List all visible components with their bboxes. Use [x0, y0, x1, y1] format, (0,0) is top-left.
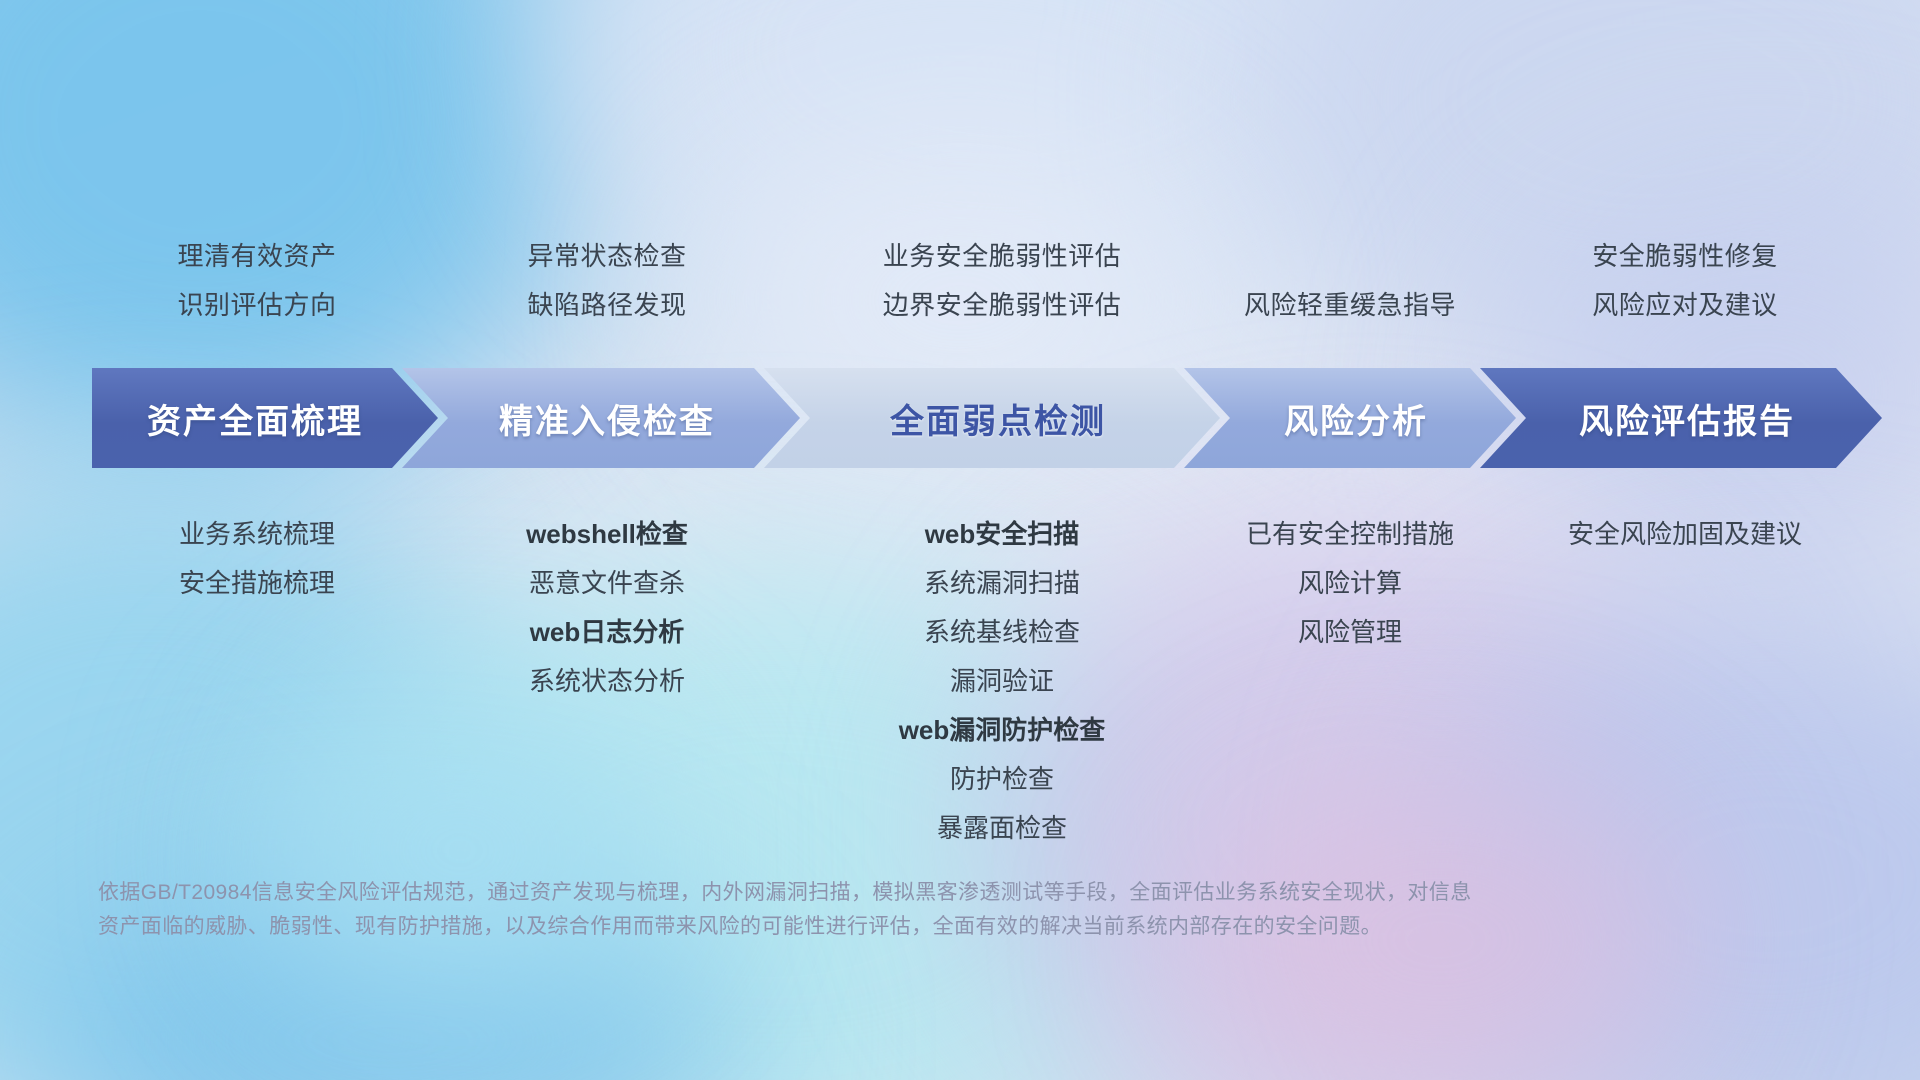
top-labels-intrusion-check: 异常状态检查缺陷路径发现	[397, 232, 817, 330]
stage-title: 资产全面梳理	[147, 394, 363, 443]
stage-title: 全面弱点检测	[890, 394, 1106, 443]
bottom-label-item: 防护检查	[782, 755, 1222, 804]
top-labels-risk-report: 安全脆弱性修复风险应对及建议	[1475, 232, 1895, 330]
process-stage-risk-analysis[interactable]: 风险分析	[1184, 368, 1516, 468]
top-label-item: 业务安全脆弱性评估	[792, 232, 1212, 281]
top-label-item: 安全脆弱性修复	[1475, 232, 1895, 281]
stage-title: 风险评估报告	[1579, 394, 1795, 443]
process-stage-weakness-detection[interactable]: 全面弱点检测	[764, 368, 1220, 468]
stage-title: 精准入侵检查	[499, 394, 715, 443]
process-stage-asset-review[interactable]: 资产全面梳理	[92, 368, 438, 468]
footer-line-2: 资产面临的威胁、脆弱性、现有防护措施，以及综合作用而带来风险的可能性进行评估，全…	[98, 910, 1618, 944]
bottom-label-item: 漏洞验证	[782, 657, 1222, 706]
top-label-item: 缺陷路径发现	[397, 281, 817, 330]
footer-line-1: 依据GB/T20984信息安全风险评估规范，通过资产发现与梳理，内外网漏洞扫描，…	[98, 876, 1618, 910]
bottom-label-item: 系统状态分析	[387, 657, 827, 706]
process-stage-risk-report[interactable]: 风险评估报告	[1480, 368, 1882, 468]
stage-title: 风险分析	[1284, 394, 1428, 443]
bottom-labels-risk-report: 安全风险加固及建议	[1465, 510, 1905, 559]
bottom-label-item: 暴露面检查	[782, 804, 1222, 853]
bottom-labels-intrusion-check: webshell检查恶意文件查杀web日志分析系统状态分析	[387, 510, 827, 706]
top-label-item: 风险应对及建议	[1475, 281, 1895, 330]
top-label-row: 理清有效资产识别评估方向异常状态检查缺陷路径发现业务安全脆弱性评估边界安全脆弱性…	[0, 232, 1920, 342]
bottom-label-item: webshell检查	[387, 510, 827, 559]
bottom-label-item: 风险计算	[1130, 559, 1570, 608]
process-stage-intrusion-check[interactable]: 精准入侵检查	[402, 368, 800, 468]
footer-description: 依据GB/T20984信息安全风险评估规范，通过资产发现与梳理，内外网漏洞扫描，…	[98, 876, 1618, 944]
bottom-label-item: web漏洞防护检查	[782, 706, 1222, 755]
top-label-item: 异常状态检查	[397, 232, 817, 281]
bottom-label-item: 安全风险加固及建议	[1465, 510, 1905, 559]
bottom-label-item: 风险管理	[1130, 608, 1570, 657]
process-chevron-band: 资产全面梳理精准入侵检查全面弱点检测风险分析风险评估报告	[92, 368, 1860, 468]
bottom-label-item: web日志分析	[387, 608, 827, 657]
bottom-label-item: 恶意文件查杀	[387, 559, 827, 608]
